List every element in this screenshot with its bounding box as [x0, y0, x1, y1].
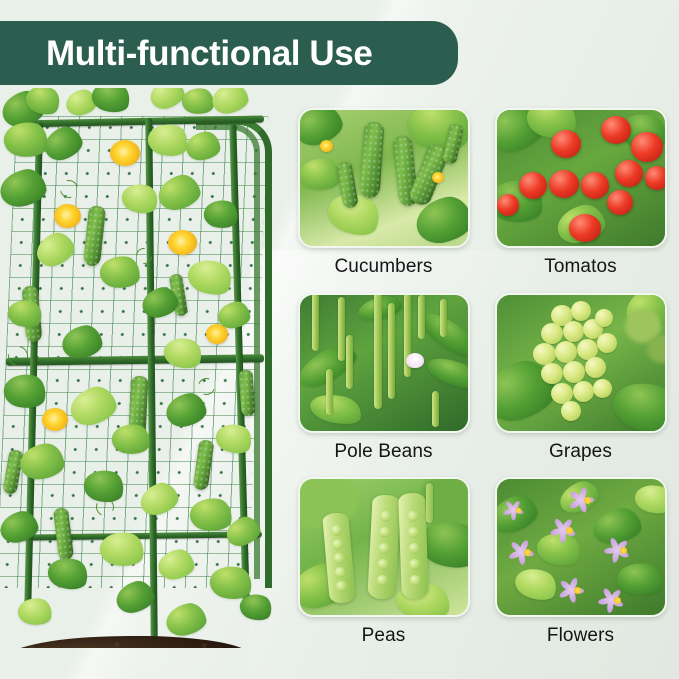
- use-case-label: Tomatos: [544, 257, 617, 276]
- cucumbers-photo[interactable]: [298, 108, 470, 248]
- use-case-flowers[interactable]: Flowers: [493, 477, 668, 656]
- vine-leaf: [209, 88, 250, 116]
- grapes-photo[interactable]: [495, 293, 667, 433]
- use-cases-grid: Cucumbers T: [296, 108, 668, 656]
- use-case-label: Grapes: [549, 442, 612, 461]
- header-banner: Multi-functional Use: [0, 21, 458, 85]
- peas-photo[interactable]: [298, 477, 470, 617]
- page-title: Multi-functional Use: [46, 36, 372, 71]
- use-case-label: Cucumbers: [334, 257, 432, 276]
- use-case-tomatos[interactable]: Tomatos: [493, 108, 668, 287]
- pole-beans-photo[interactable]: [298, 293, 470, 433]
- use-case-grapes[interactable]: Grapes: [493, 293, 668, 472]
- cucumber-flower: [54, 204, 81, 228]
- vine-leaf: [180, 88, 216, 116]
- infographic-page: Multi-functional Use: [0, 0, 679, 679]
- vine-leaf: [163, 600, 208, 638]
- use-case-label: Pole Beans: [334, 442, 432, 461]
- flowers-photo[interactable]: [495, 477, 667, 617]
- tomatos-photo[interactable]: [495, 108, 667, 248]
- use-case-cucumbers[interactable]: Cucumbers: [296, 108, 471, 287]
- use-case-label: Flowers: [547, 626, 614, 645]
- product-trellis-image: [0, 88, 292, 648]
- use-case-peas[interactable]: Peas: [296, 477, 471, 656]
- vine-leaf: [89, 88, 134, 117]
- cucumber-flower: [110, 140, 140, 166]
- product-image-inner: [0, 88, 292, 648]
- vine-leaf: [16, 596, 54, 628]
- use-case-pole-beans[interactable]: Pole Beans: [296, 293, 471, 472]
- cucumber-flower: [168, 230, 197, 255]
- cucumber-flower: [42, 408, 68, 431]
- soil-row-back: [2, 633, 253, 648]
- use-case-label: Peas: [362, 626, 406, 645]
